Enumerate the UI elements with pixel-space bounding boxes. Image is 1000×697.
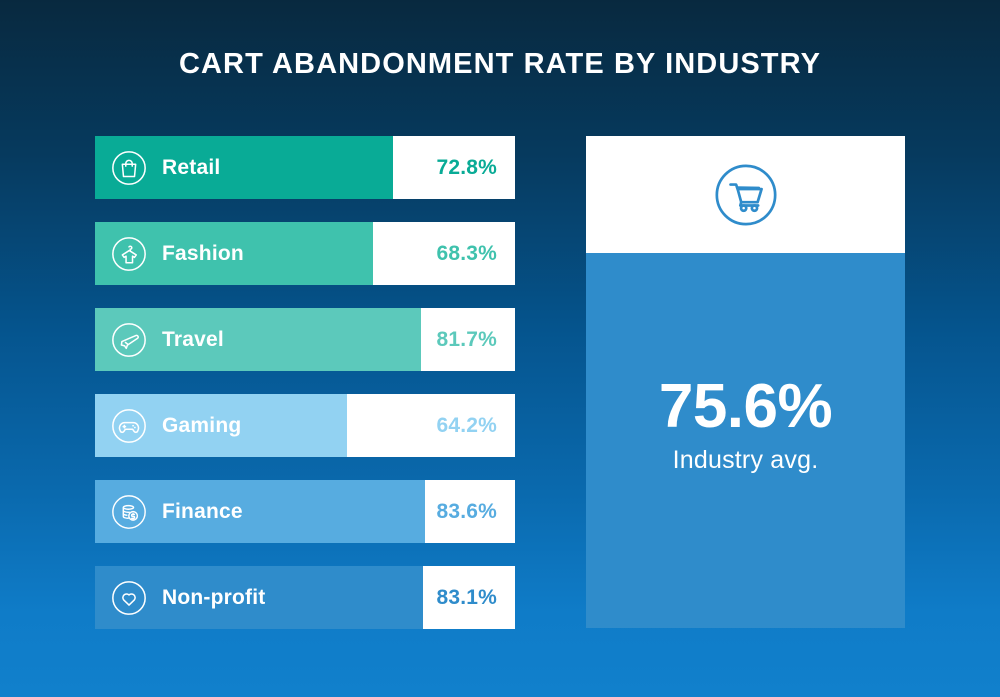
shopping-bag-icon <box>110 149 148 187</box>
bar-fill-finance: Finance <box>95 480 425 543</box>
bar-value-travel: 81.7% <box>436 308 497 371</box>
airplane-icon <box>110 321 148 359</box>
bar-row-travel[interactable]: Travel 81.7% <box>95 308 515 371</box>
bar-row-retail[interactable]: Retail 72.8% <box>95 136 515 199</box>
infographic-canvas: CART ABANDONMENT RATE BY INDUSTRY Retail… <box>0 0 1000 697</box>
bar-label-gaming: Gaming <box>162 414 241 438</box>
bar-fill-gaming: Gaming <box>95 394 347 457</box>
bar-value-non-profit: 83.1% <box>436 566 497 629</box>
bar-value-gaming: 64.2% <box>436 394 497 457</box>
stat-card-body: 75.6% Industry avg. <box>586 253 905 628</box>
bar-fill-retail: Retail <box>95 136 393 199</box>
bar-label-retail: Retail <box>162 156 220 180</box>
stat-card-header <box>586 136 905 253</box>
bar-row-fashion[interactable]: Fashion 68.3% <box>95 222 515 285</box>
tshirt-hanger-icon <box>110 235 148 273</box>
bar-row-gaming[interactable]: Gaming 64.2% <box>95 394 515 457</box>
bar-value-finance: 83.6% <box>436 480 497 543</box>
page-title: CART ABANDONMENT RATE BY INDUSTRY <box>0 48 1000 81</box>
bar-label-travel: Travel <box>162 328 224 352</box>
bar-value-retail: 72.8% <box>436 136 497 199</box>
bar-label-fashion: Fashion <box>162 242 244 266</box>
bar-chart: Retail 72.8% Fashion 68.3% <box>95 136 515 652</box>
heart-icon <box>110 579 148 617</box>
bar-fill-travel: Travel <box>95 308 421 371</box>
bar-label-finance: Finance <box>162 500 243 524</box>
industry-average-value: 75.6% <box>659 376 832 438</box>
bar-fill-fashion: Fashion <box>95 222 373 285</box>
bar-row-finance[interactable]: Finance 83.6% <box>95 480 515 543</box>
industry-average-card: 75.6% Industry avg. <box>586 136 905 628</box>
bar-label-non-profit: Non-profit <box>162 586 265 610</box>
industry-average-caption: Industry avg. <box>673 446 819 475</box>
bar-fill-non-profit: Non-profit <box>95 566 423 629</box>
coins-money-icon <box>110 493 148 531</box>
gamepad-icon <box>110 407 148 445</box>
shopping-cart-icon <box>710 159 782 231</box>
bar-row-non-profit[interactable]: Non-profit 83.1% <box>95 566 515 629</box>
bar-value-fashion: 68.3% <box>436 222 497 285</box>
